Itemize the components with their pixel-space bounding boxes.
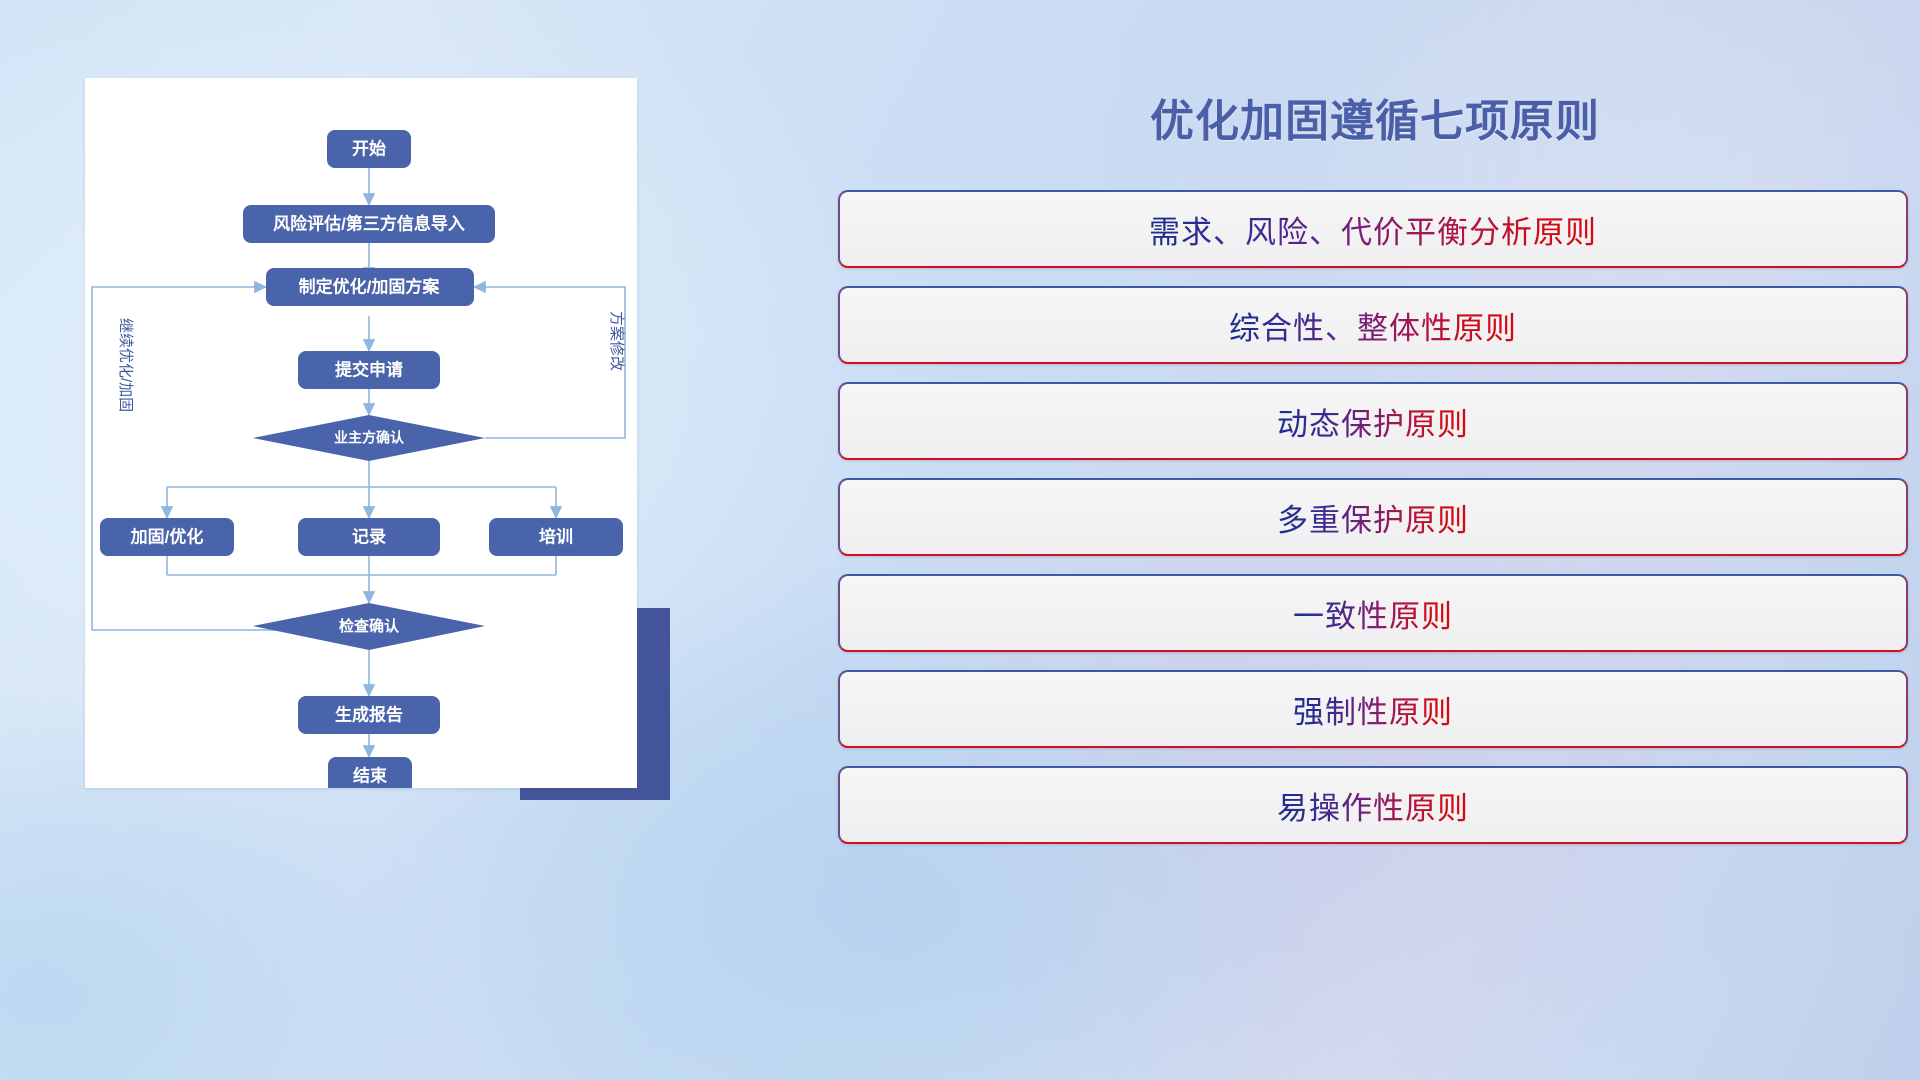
flow-node-check-confirm[interactable]: 检查确认 [253, 603, 485, 650]
principle-card[interactable]: 易操作性原则 [838, 766, 1908, 844]
principle-card-label: 需求、风险、代价平衡分析原则 [1149, 207, 1597, 252]
flow-edge-label-plan-revision: 方案修改 [608, 311, 626, 371]
principle-card-label: 动态保护原则 [1277, 399, 1469, 444]
principle-card[interactable]: 强制性原则 [838, 670, 1908, 748]
principles-card-list: 需求、风险、代价平衡分析原则 综合性、整体性原则 动态保护原则 多重保护原则 一… [838, 190, 1908, 862]
flow-node-risk-assessment[interactable]: 风险评估/第三方信息导入 [243, 205, 495, 243]
principle-card-label: 一致性原则 [1293, 591, 1453, 636]
flow-node-submit[interactable]: 提交申请 [298, 351, 440, 389]
flow-node-plan-label: 制定优化/加固方案 [299, 276, 441, 296]
principle-card-label: 多重保护原则 [1277, 495, 1469, 540]
flow-connectors [90, 168, 625, 757]
flowchart-diagram: 开始 风险评估/第三方信息导入 制定优化/加固方案 提交申请 业主方确认 加固/… [85, 78, 637, 788]
flow-node-owner-confirm-label: 业主方确认 [334, 430, 405, 446]
flow-node-check-confirm-label: 检查确认 [339, 617, 400, 635]
flow-node-start-label: 开始 [352, 138, 386, 158]
flow-node-reinforce-label: 加固/优化 [130, 526, 204, 546]
flow-node-owner-confirm[interactable]: 业主方确认 [253, 415, 485, 461]
flow-node-end-label: 结束 [353, 765, 387, 785]
principle-card[interactable]: 一致性原则 [838, 574, 1908, 652]
principle-card-label: 易操作性原则 [1277, 783, 1469, 828]
flow-node-report[interactable]: 生成报告 [298, 696, 440, 734]
flow-node-submit-label: 提交申请 [335, 359, 403, 379]
flow-node-end[interactable]: 结束 [328, 757, 412, 788]
flowchart-panel: 开始 风险评估/第三方信息导入 制定优化/加固方案 提交申请 业主方确认 加固/… [85, 78, 637, 788]
principle-card-label: 综合性、整体性原则 [1229, 303, 1517, 348]
flow-node-report-label: 生成报告 [335, 704, 403, 724]
flow-node-record-label: 记录 [352, 527, 386, 546]
flow-node-training[interactable]: 培训 [489, 518, 623, 556]
principle-card-label: 强制性原则 [1293, 687, 1453, 732]
flow-node-start[interactable]: 开始 [327, 130, 411, 168]
flow-edge-label-continue-optimize: 继续优化/加固 [117, 318, 134, 412]
principle-card[interactable]: 需求、风险、代价平衡分析原则 [838, 190, 1908, 268]
flow-node-reinforce[interactable]: 加固/优化 [100, 518, 234, 556]
principles-panel: 优化加固遵循七项原则 需求、风险、代价平衡分析原则 综合性、整体性原则 动态保护… [830, 0, 1920, 1080]
flow-node-record[interactable]: 记录 [298, 518, 440, 556]
principle-card[interactable]: 动态保护原则 [838, 382, 1908, 460]
principle-card[interactable]: 综合性、整体性原则 [838, 286, 1908, 364]
principles-title: 优化加固遵循七项原则 [830, 85, 1920, 149]
flow-node-training-label: 培训 [539, 526, 573, 546]
principle-card[interactable]: 多重保护原则 [838, 478, 1908, 556]
flow-node-plan[interactable]: 制定优化/加固方案 [266, 268, 474, 306]
flow-node-risk-assessment-label: 风险评估/第三方信息导入 [273, 213, 465, 233]
